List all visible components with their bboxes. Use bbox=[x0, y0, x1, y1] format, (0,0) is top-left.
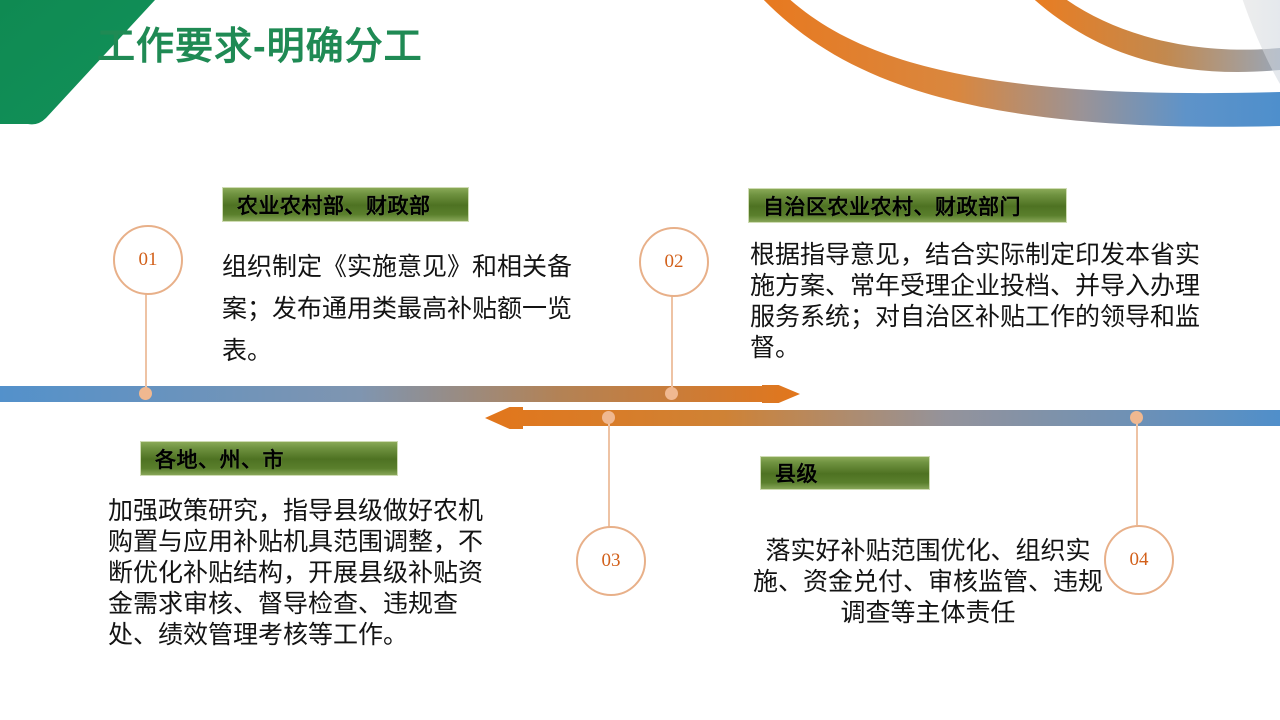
node-number-02: 02 bbox=[665, 251, 684, 273]
node-number-03: 03 bbox=[602, 550, 621, 572]
top-timeline-arrow bbox=[0, 385, 800, 403]
node-circle-04[interactable]: 04 bbox=[1104, 525, 1174, 595]
node-circle-01[interactable]: 01 bbox=[113, 225, 183, 295]
chip-text-02: 自治区农业农村、财政部门 bbox=[763, 191, 1021, 221]
connector-04 bbox=[1136, 418, 1138, 525]
body-text-04: 落实好补贴范围优化、组织实施、资金兑付、审核监管、违规调查等主体责任 bbox=[748, 536, 1108, 629]
chip-text-04: 县级 bbox=[775, 458, 818, 488]
chip-label-04: 县级 bbox=[760, 456, 930, 490]
page-title: 工作要求-明确分工 bbox=[97, 24, 423, 70]
node-circle-03[interactable]: 03 bbox=[576, 526, 646, 596]
node-dot-03 bbox=[602, 411, 615, 424]
orange-blue-swoosh-shape bbox=[720, 0, 1280, 130]
node-number-01: 01 bbox=[139, 249, 158, 271]
slide-canvas: 工作要求-明确分工 01 农业农村部、财政部 bbox=[0, 0, 1280, 720]
body-text-03: 加强政策研究，指导县级做好农机购置与应用补贴机具范围调整，不断优化补贴结构，开展… bbox=[108, 496, 488, 651]
chip-text-01: 农业农村部、财政部 bbox=[237, 190, 431, 220]
connector-02 bbox=[671, 294, 673, 395]
connector-03 bbox=[608, 418, 610, 528]
node-circle-02[interactable]: 02 bbox=[639, 227, 709, 297]
body-text-01: 组织制定《实施意见》和相关备案；发布通用类最高补贴额一览表。 bbox=[222, 246, 594, 372]
chip-text-03: 各地、州、市 bbox=[155, 444, 284, 474]
node-dot-02 bbox=[665, 387, 678, 400]
node-dot-01 bbox=[139, 387, 152, 400]
node-number-04: 04 bbox=[1130, 549, 1149, 571]
node-dot-04 bbox=[1130, 411, 1143, 424]
chip-label-02: 自治区农业农村、财政部门 bbox=[748, 188, 1067, 223]
body-text-02: 根据指导意见，结合实际制定印发本省实施方案、常年受理企业投档、并导入办理服务系统… bbox=[750, 240, 1202, 364]
chip-label-03: 各地、州、市 bbox=[140, 441, 398, 476]
connector-01 bbox=[145, 292, 147, 395]
chip-label-01: 农业农村部、财政部 bbox=[222, 187, 469, 222]
